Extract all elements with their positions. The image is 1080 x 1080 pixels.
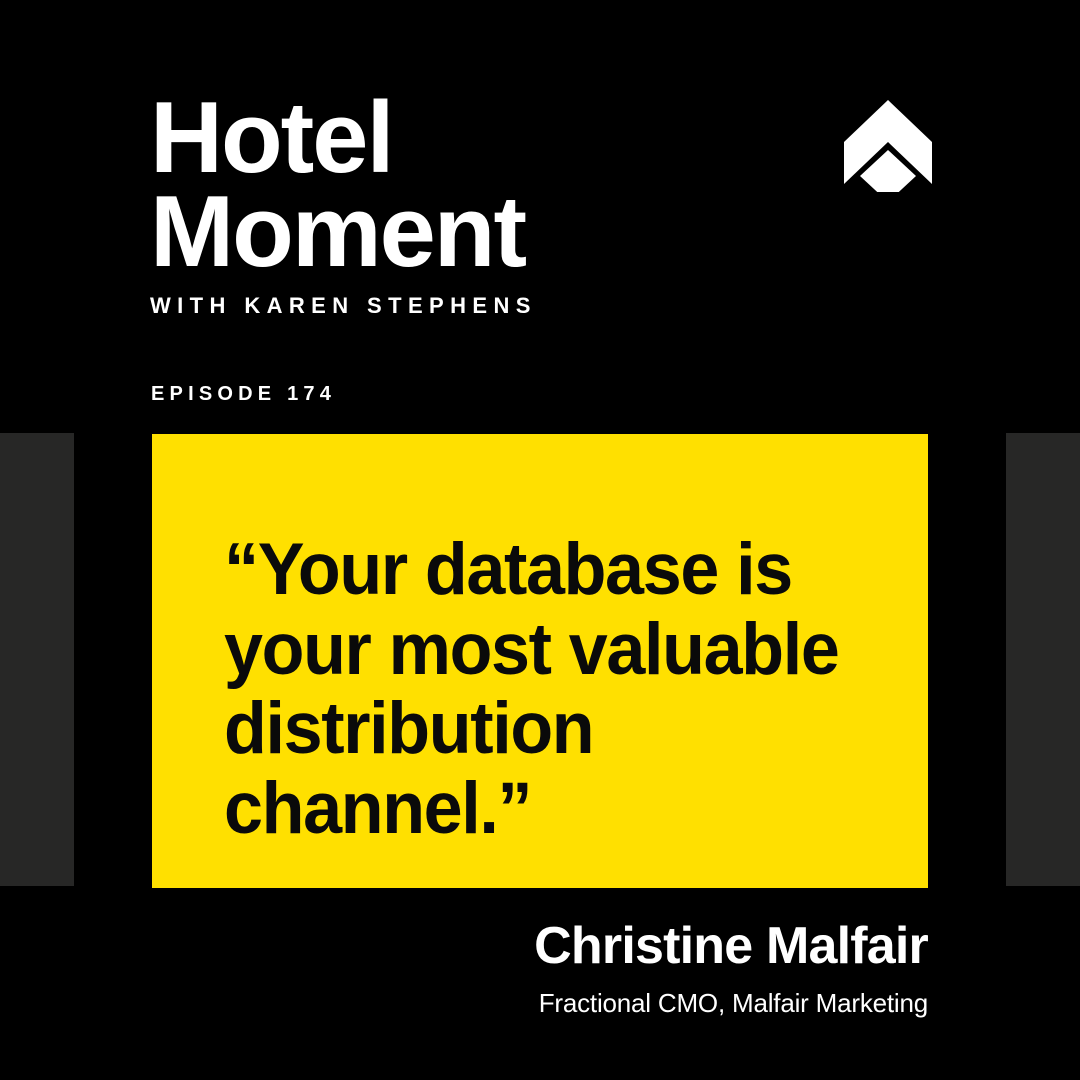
quote-text: “Your database is your most valuable dis… xyxy=(224,530,877,848)
show-subtitle: WITH KAREN STEPHENS xyxy=(150,293,870,319)
quote-card: “Your database is your most valuable dis… xyxy=(152,434,928,888)
chevron-diamond-logo-icon xyxy=(843,98,933,192)
left-accent-panel xyxy=(0,433,74,886)
right-accent-panel xyxy=(1006,433,1080,886)
speaker-role: Fractional CMO, Malfair Marketing xyxy=(228,990,928,1016)
podcast-quote-card: Hotel Moment WITH KAREN STEPHENS EPISODE… xyxy=(0,0,1080,1080)
episode-number-label: EPISODE 174 xyxy=(151,383,336,406)
show-title: Hotel Moment xyxy=(150,92,870,280)
show-branding: Hotel Moment WITH KAREN STEPHENS xyxy=(150,92,870,319)
speaker-name: Christine Malfair xyxy=(228,920,928,972)
speaker-attribution: Christine Malfair Fractional CMO, Malfai… xyxy=(228,920,928,1016)
show-title-line-2: Moment xyxy=(150,186,870,280)
